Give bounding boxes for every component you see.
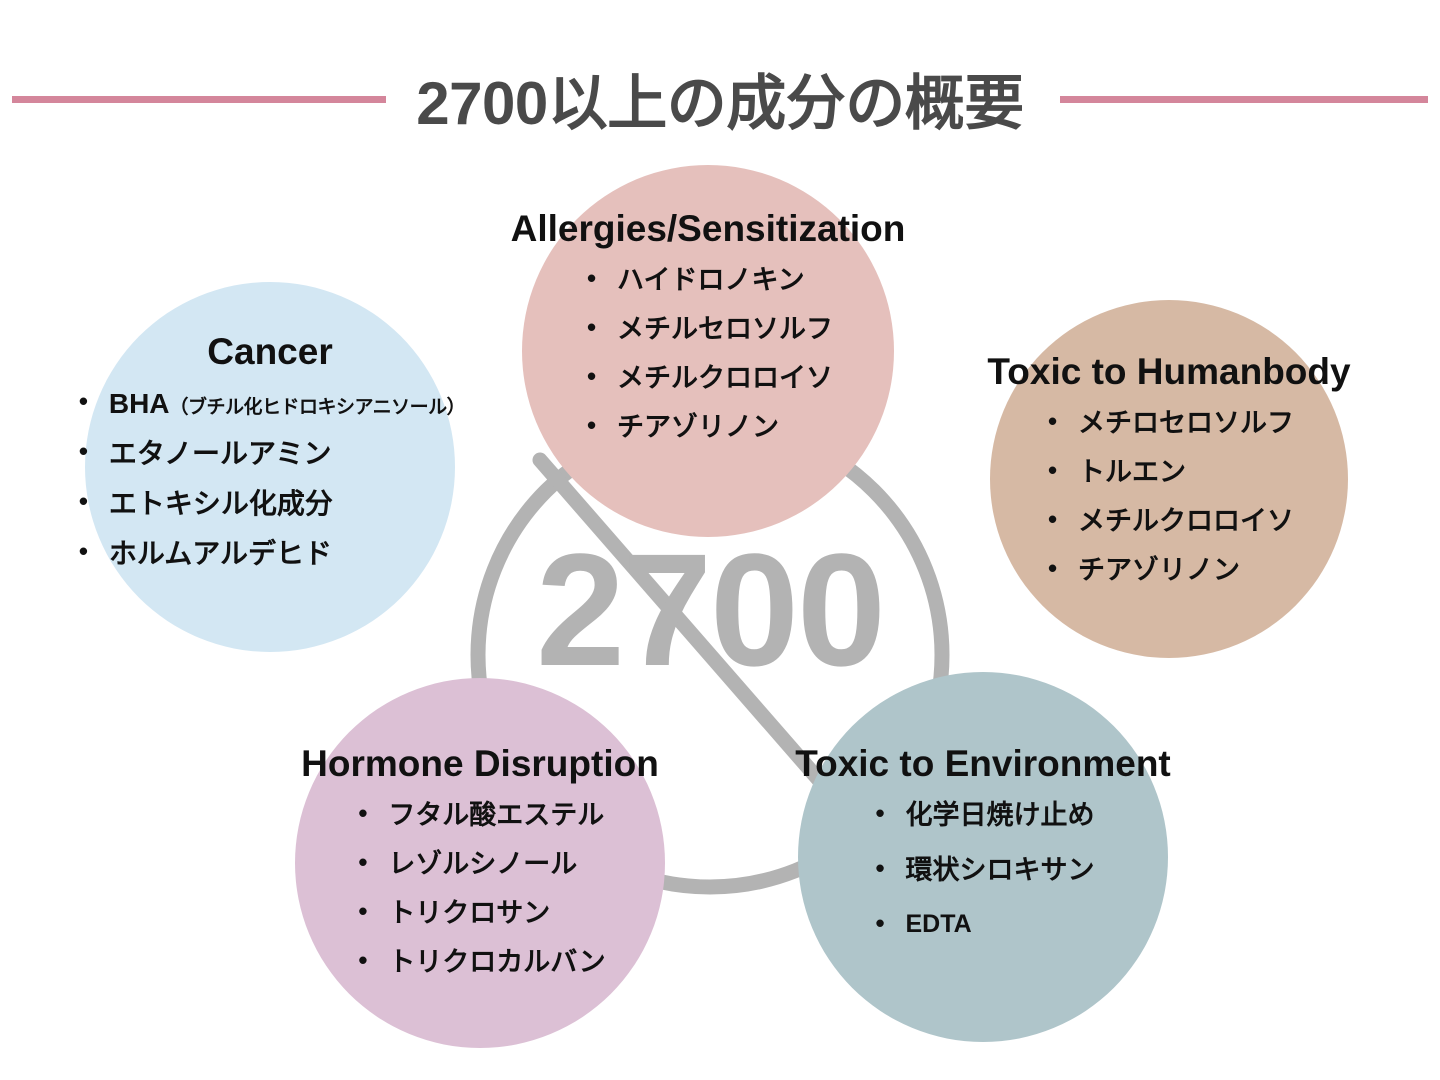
bubble-humanbody-title: Toxic to Humanbody <box>929 352 1409 393</box>
list-item: 化学日焼け止め <box>872 799 1095 832</box>
list-item: EDTA <box>872 909 1095 940</box>
list-item-note: （ブチル化ヒドロキシアニソール） <box>170 397 466 418</box>
bubble-environment-list: 化学日焼け止め 環状シロキサン EDTA <box>872 799 1095 961</box>
list-item: メチルクロロイソ <box>583 362 833 395</box>
list-item-label: BHA <box>109 388 170 419</box>
bubble-environment-title: Toxic to Environment <box>743 744 1223 785</box>
list-item: 環状シロキサン <box>872 854 1095 887</box>
list-item: フタル酸エステル <box>354 799 605 832</box>
bubble-humanbody-list: メチロセロソルフ トルエン メチルクロロイソ チアゾリノン <box>1044 407 1294 603</box>
list-item: トリクロサン <box>354 897 605 930</box>
bubble-environment-content: Toxic to Environment 化学日焼け止め 環状シロキサン EDT… <box>743 744 1223 961</box>
list-item: メチロセロソルフ <box>1044 407 1294 440</box>
bubble-allergies-title: Allergies/Sensitization <box>468 209 948 250</box>
page-title: 2700以上の成分の概要 <box>0 74 1440 134</box>
bubble-hormone-disruption[interactable]: Hormone Disruption フタル酸エステル レゾルシノール トリクロ… <box>295 678 665 1048</box>
bubble-humanbody[interactable]: Toxic to Humanbody メチロセロソルフ トルエン メチルクロロイ… <box>990 300 1348 658</box>
list-item: メチルクロロイソ <box>1044 505 1294 538</box>
bubble-hormone-list: フタル酸エステル レゾルシノール トリクロサン トリクロカルバン <box>354 799 605 995</box>
bubble-cancer-list: BHA（ブチル化ヒドロキシアニソール） エタノールアミン エトキシル化成分 ホル… <box>75 387 465 588</box>
bubble-cancer-content: Cancer BHA（ブチル化ヒドロキシアニソール） エタノールアミン エトキシ… <box>30 332 510 587</box>
list-item: メチルセロソルフ <box>583 313 833 346</box>
bubble-environment[interactable]: Toxic to Environment 化学日焼け止め 環状シロキサン EDT… <box>798 672 1168 1042</box>
bubble-hormone-title: Hormone Disruption <box>240 744 720 785</box>
bubble-allergies-list: ハイドロノキン メチルセロソルフ メチルクロロイソ チアゾリノン <box>583 264 833 460</box>
bubble-humanbody-content: Toxic to Humanbody メチロセロソルフ トルエン メチルクロロイ… <box>929 352 1409 602</box>
bubble-allergies-content: Allergies/Sensitization ハイドロノキン メチルセロソルフ… <box>468 209 948 459</box>
title-bar: 2700以上の成分の概要 <box>0 0 1440 165</box>
list-item: トルエン <box>1044 456 1294 489</box>
list-item: エトキシル化成分 <box>75 487 465 521</box>
bubble-cancer[interactable]: Cancer BHA（ブチル化ヒドロキシアニソール） エタノールアミン エトキシ… <box>85 282 455 652</box>
list-item: BHA（ブチル化ヒドロキシアニソール） <box>75 387 465 421</box>
bubble-allergies[interactable]: Allergies/Sensitization ハイドロノキン メチルセロソルフ… <box>522 165 894 537</box>
list-item-continuation: チアゾリノン <box>583 411 833 444</box>
list-item: レゾルシノール <box>354 848 605 881</box>
bubble-cancer-title: Cancer <box>30 332 510 373</box>
bubble-hormone-content: Hormone Disruption フタル酸エステル レゾルシノール トリクロ… <box>240 744 720 994</box>
list-item: トリクロカルバン <box>354 946 605 979</box>
list-item-continuation: チアゾリノン <box>1044 554 1294 587</box>
list-item: ホルムアルデヒド <box>75 537 465 571</box>
hub-count-label: 2700 <box>470 530 950 690</box>
list-item: ハイドロノキン <box>583 264 833 297</box>
list-item: エタノールアミン <box>75 437 465 471</box>
